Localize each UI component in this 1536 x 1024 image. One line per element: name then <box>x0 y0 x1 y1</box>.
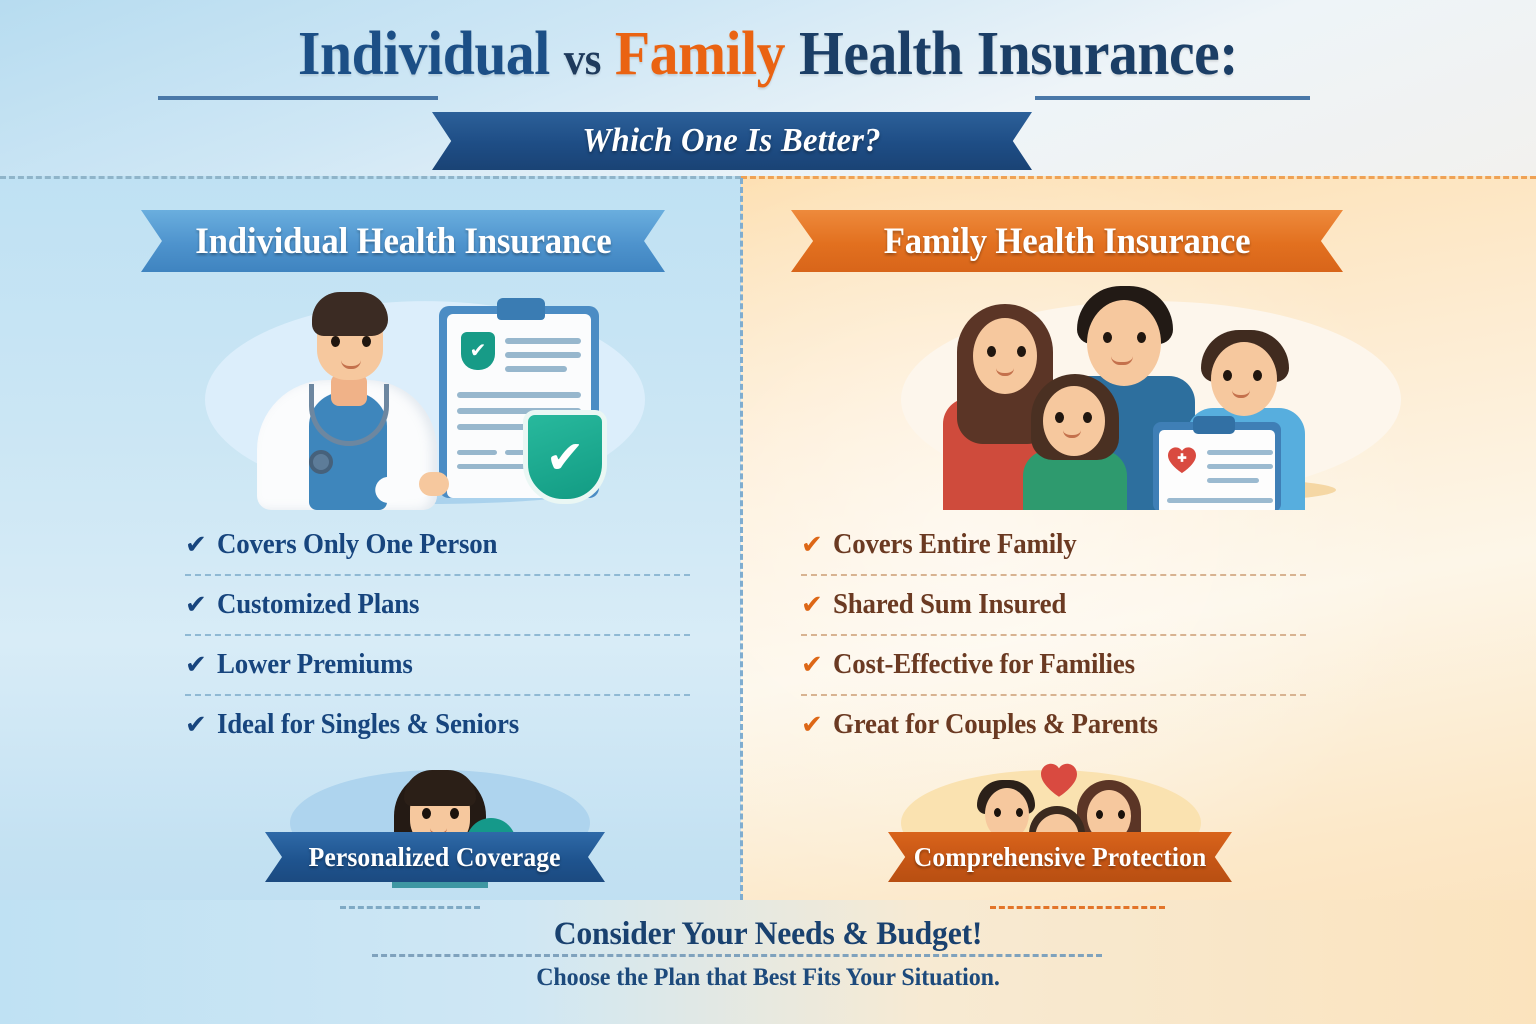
left-section-header-ribbon: Individual Health Insurance <box>141 210 665 272</box>
trio-father-eye-right <box>1016 808 1023 817</box>
right-badge-label: Comprehensive Protection <box>914 842 1207 873</box>
feature-label: Shared Sum Insured <box>833 589 1066 621</box>
paper-text-line <box>457 392 581 398</box>
title-part-family: Family <box>615 20 785 88</box>
mother-head <box>973 318 1037 394</box>
title-part-health-insurance: Health Insurance: <box>799 20 1238 88</box>
doctor-hand <box>419 472 449 496</box>
feature-label: Covers Only One Person <box>217 529 497 561</box>
mother-eye-right <box>1017 346 1026 357</box>
doctor-eye-left <box>331 336 340 347</box>
subtitle-text: Which One Is Better? <box>583 122 882 160</box>
check-icon: ✔ <box>185 652 217 678</box>
subtitle-ribbon: Which One Is Better? <box>432 112 1032 170</box>
heart-icon <box>1039 762 1079 798</box>
father-eye-left <box>1103 332 1112 343</box>
right-feature-list: ✔ Covers Entire Family ✔ Shared Sum Insu… <box>801 516 1321 754</box>
clipboard-clamp-icon <box>497 298 545 320</box>
page-title: Individual vs Family Health Insurance: <box>54 20 1482 88</box>
check-icon: ✔ <box>801 532 833 558</box>
footer-divider-middle <box>372 954 1102 957</box>
doctor-eye-right <box>362 336 371 347</box>
feature-item: ✔ Great for Couples & Parents <box>801 696 1321 754</box>
individual-insurance-column: Individual Health Insurance <box>0 176 741 900</box>
feature-item: ✔ Shared Sum Insured <box>801 576 1321 634</box>
left-feature-list: ✔ Covers Only One Person ✔ Customized Pl… <box>185 516 705 754</box>
family-insurance-column: Family Health Insurance <box>741 176 1536 900</box>
title-part-individual: Individual <box>298 20 550 88</box>
feature-item: ✔ Covers Only One Person <box>185 516 705 574</box>
daughter-eye-right <box>1083 412 1092 423</box>
policy-text-line <box>1207 464 1273 469</box>
family-clipboard-clamp-icon <box>1193 416 1235 434</box>
check-icon: ✔ <box>185 592 217 618</box>
paper-text-line <box>505 352 581 358</box>
check-icon: ✔ <box>185 712 217 738</box>
check-icon: ✔ <box>801 652 833 678</box>
footer-divider-left <box>340 906 480 909</box>
title-underline-right <box>1035 96 1310 100</box>
trio-mother-eye-left <box>1096 810 1103 819</box>
paper-text-line <box>505 366 567 372</box>
son-eye-left <box>1223 370 1232 381</box>
feature-item: ✔ Ideal for Singles & Seniors <box>185 696 705 754</box>
footer-headline: Consider Your Needs & Budget! <box>31 916 1506 953</box>
family-illustration <box>901 280 1401 510</box>
paper-text-line <box>505 338 581 344</box>
woman-hair-front <box>404 770 476 806</box>
father-head <box>1087 300 1161 386</box>
footer-divider-right <box>990 906 1165 909</box>
trio-mother-eye-right <box>1118 810 1125 819</box>
shield-check-glyph: ✔ <box>546 434 585 480</box>
doctor-hair <box>312 292 388 336</box>
paper-text-line <box>457 450 497 455</box>
father-eye-right <box>1137 332 1146 343</box>
infographic-poster: Individual vs Family Health Insurance: W… <box>0 0 1536 1024</box>
right-section-header-ribbon: Family Health Insurance <box>791 210 1343 272</box>
feature-label: Covers Entire Family <box>833 529 1077 561</box>
feature-label: Great for Couples & Parents <box>833 709 1158 741</box>
left-badge-label: Personalized Coverage <box>309 842 561 873</box>
feature-item: ✔ Covers Entire Family <box>801 516 1321 574</box>
shield-check-icon: ✔ <box>523 410 607 504</box>
policy-text-line <box>1207 478 1259 483</box>
check-icon: ✔ <box>801 592 833 618</box>
right-section-header-text: Family Health Insurance <box>884 220 1251 263</box>
small-shield-check-icon <box>461 332 495 370</box>
doctor-illustration: ✔ <box>205 280 645 510</box>
heart-with-cross-icon <box>1167 446 1197 474</box>
son-eye-right <box>1253 370 1262 381</box>
mother-eye-left <box>987 346 996 357</box>
footer-subtext: Choose the Plan that Best Fits Your Situ… <box>31 964 1506 992</box>
title-vs: vs <box>564 33 601 84</box>
feature-item: ✔ Lower Premiums <box>185 636 705 694</box>
daughter-head <box>1043 386 1105 456</box>
son-head <box>1211 342 1277 416</box>
feature-label: Ideal for Singles & Seniors <box>217 709 519 741</box>
feature-label: Cost-Effective for Families <box>833 649 1135 681</box>
left-badge-ribbon: Personalized Coverage <box>265 832 605 882</box>
title-underline-left <box>158 96 438 100</box>
feature-item: ✔ Customized Plans <box>185 576 705 634</box>
feature-label: Lower Premiums <box>217 649 413 681</box>
feature-label: Customized Plans <box>217 589 419 621</box>
left-section-header-text: Individual Health Insurance <box>195 220 611 263</box>
check-icon: ✔ <box>185 532 217 558</box>
policy-text-line <box>1167 498 1273 503</box>
right-badge-ribbon: Comprehensive Protection <box>888 832 1232 882</box>
policy-text-line <box>1207 450 1273 455</box>
stethoscope-bell-icon <box>309 450 333 474</box>
woman-eye-right <box>450 808 459 819</box>
woman-eye-left <box>422 808 431 819</box>
trio-father-eye-left <box>994 808 1001 817</box>
feature-item: ✔ Cost-Effective for Families <box>801 636 1321 694</box>
daughter-eye-left <box>1055 412 1064 423</box>
check-icon: ✔ <box>801 712 833 738</box>
